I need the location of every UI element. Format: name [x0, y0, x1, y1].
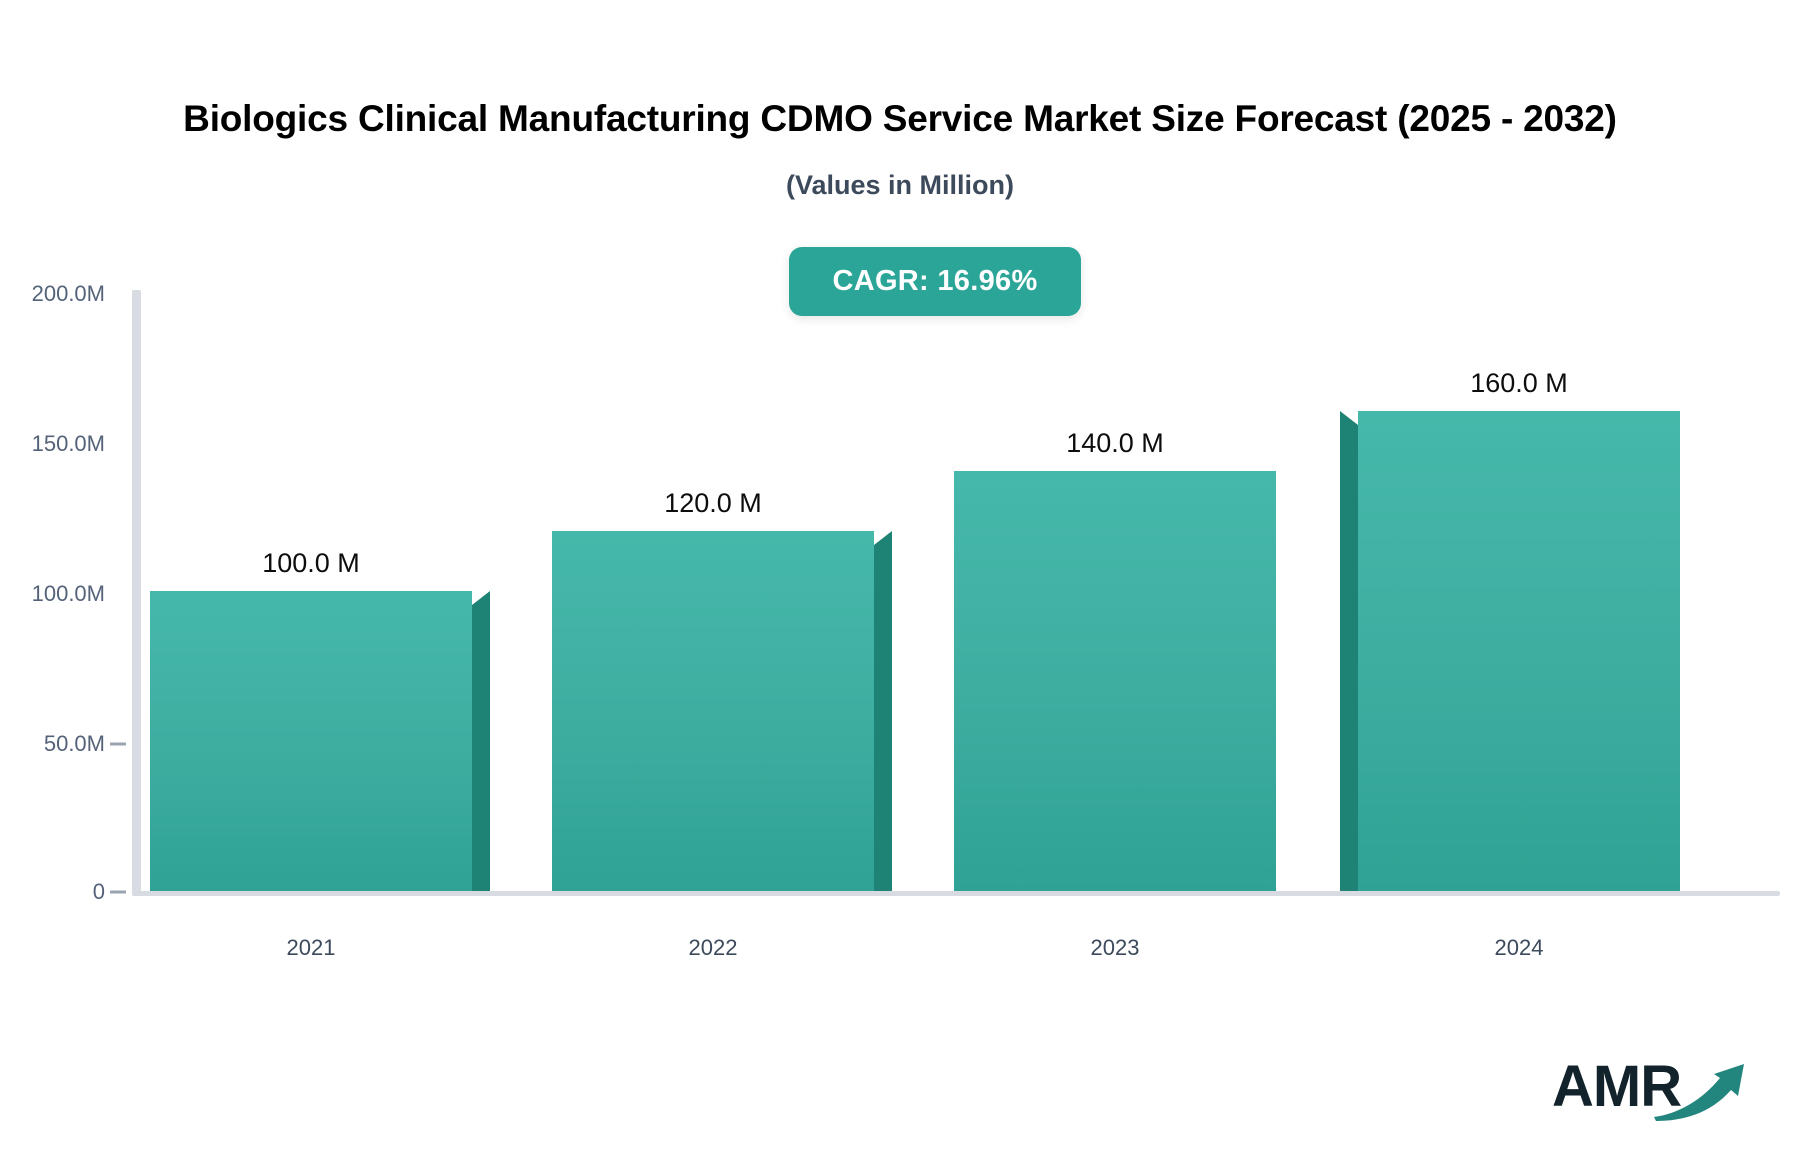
bar-value-label-2023: 140.0 M — [954, 428, 1276, 459]
bar-side-face-2021 — [472, 591, 490, 891]
bar-2022[interactable] — [552, 531, 874, 891]
y-tick-mark-50 — [110, 743, 126, 746]
bar-group-2021[interactable]: 100.0 M 2021 — [150, 291, 490, 891]
bar-value-label-2021: 100.0 M — [150, 548, 472, 579]
x-axis-label-2022: 2022 — [552, 935, 874, 961]
bar-group-2024[interactable]: 160.0 M 2024 — [1340, 291, 1700, 891]
bar-2024[interactable] — [1358, 411, 1680, 891]
bar-2023[interactable] — [954, 471, 1276, 891]
bar-side-face-2024 — [1340, 411, 1358, 891]
x-axis-label-2021: 2021 — [150, 935, 472, 961]
y-tick-label-50: 50.0M — [0, 731, 105, 757]
bar-value-label-2022: 120.0 M — [552, 488, 874, 519]
y-tick-label-200: 200.0M — [0, 281, 105, 307]
x-axis-label-2024: 2024 — [1358, 935, 1680, 961]
y-tick-label-150: 150.0M — [0, 431, 105, 457]
bar-group-2022[interactable]: 120.0 M 2022 — [552, 291, 892, 891]
bar-group-2023[interactable]: 140.0 M 2023 — [954, 291, 1294, 891]
y-tick-mark-0 — [110, 891, 126, 894]
y-tick-label-0: 0 — [0, 879, 105, 905]
growth-arrow-icon — [1652, 1060, 1748, 1122]
y-tick-label-100: 100.0M — [0, 581, 105, 607]
bar-chart-plot: 200.0M 150.0M 100.0M 50.0M 0 100.0 M 202… — [0, 0, 1800, 1156]
bar-2021[interactable] — [150, 591, 472, 891]
y-axis-line — [132, 290, 141, 893]
x-axis-label-2023: 2023 — [954, 935, 1276, 961]
x-axis-baseline — [132, 891, 1780, 896]
bar-side-face-2022 — [874, 531, 892, 891]
amr-logo: AMR — [1552, 1044, 1742, 1128]
bar-value-label-2024: 160.0 M — [1358, 368, 1680, 399]
